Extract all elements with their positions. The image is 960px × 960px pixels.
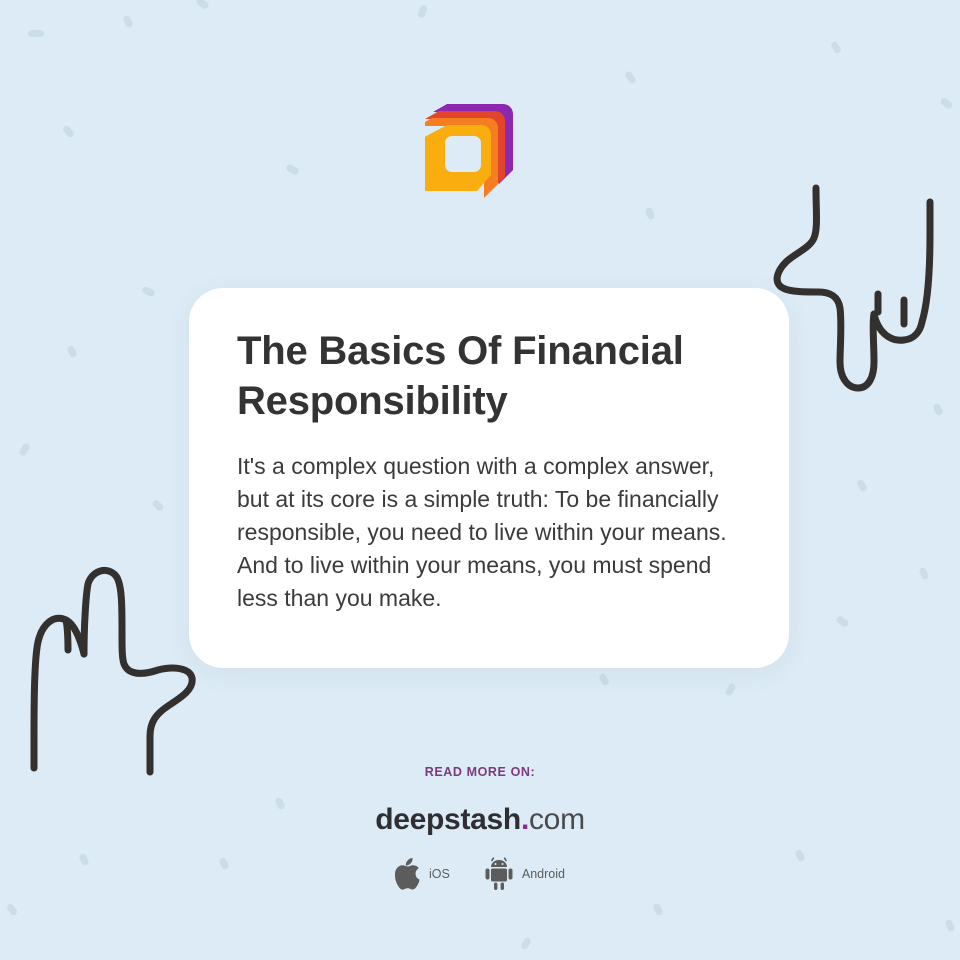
confetti-dash (520, 937, 532, 951)
confetti-dash (724, 682, 737, 697)
wordmark-tld: com (529, 803, 585, 836)
quote-card: The Basics Of Financial Responsibility I… (189, 288, 789, 668)
logo-layer-yellow (425, 125, 491, 191)
confetti-dash (932, 403, 943, 417)
confetti-dash (141, 286, 156, 298)
page-title: The Basics Of Financial Responsibility (237, 326, 741, 426)
confetti-dash (66, 345, 77, 359)
confetti-dash (918, 567, 929, 581)
footer: READ MORE ON: deepstash.com iOS (0, 765, 960, 891)
ios-badge[interactable]: iOS (395, 858, 450, 890)
confetti-dash (122, 15, 133, 29)
confetti-dash (151, 499, 164, 512)
confetti-dash (830, 41, 842, 55)
poster-canvas: The Basics Of Financial Responsibility I… (0, 0, 960, 960)
confetti-dash (417, 4, 428, 19)
confetti-dash (939, 97, 953, 111)
deepstash-logo-icon (425, 100, 521, 200)
confetti-dash (835, 615, 850, 628)
deepstash-wordmark[interactable]: deepstash.com (0, 805, 960, 835)
wordmark-name: deepstash (375, 803, 521, 836)
android-badge[interactable]: Android (484, 857, 565, 891)
confetti-dash (62, 124, 76, 138)
confetti-dash (645, 207, 656, 221)
confetti-dash (624, 70, 637, 85)
quote-text: It's a complex question with a complex a… (237, 450, 741, 615)
confetti-dash (285, 163, 300, 176)
confetti-dash (6, 903, 19, 917)
confetti-dash (652, 903, 663, 917)
ios-label: iOS (429, 867, 450, 881)
confetti-dash (28, 30, 44, 37)
apple-icon (395, 858, 421, 890)
read-more-label: READ MORE ON: (0, 765, 960, 779)
confetti-dash (195, 0, 210, 10)
confetti-dash (598, 673, 610, 687)
app-store-badges: iOS Android (0, 857, 960, 891)
confetti-dash (944, 919, 955, 933)
wordmark-dot: . (521, 803, 529, 836)
confetti-dash (18, 442, 31, 457)
android-icon (484, 857, 514, 891)
android-label: Android (522, 867, 565, 881)
confetti-dash (856, 479, 868, 493)
